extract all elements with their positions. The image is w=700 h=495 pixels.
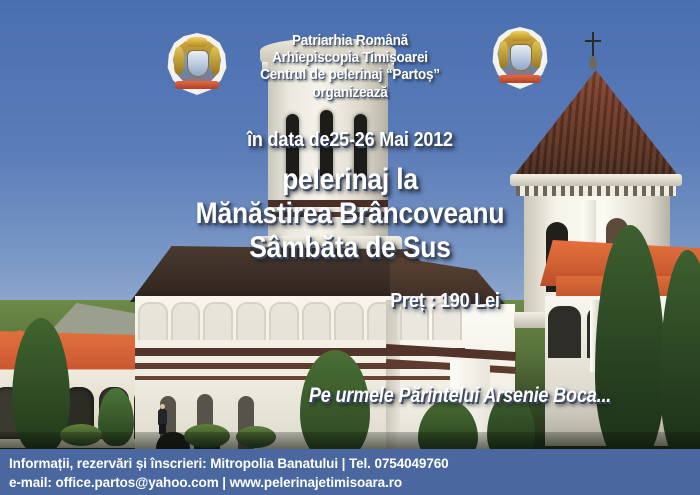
visitor-figure [157, 404, 168, 434]
blind-niche [203, 302, 233, 340]
event-date: în data de25-26 Mai 2012 [35, 129, 665, 151]
blind-niche [171, 302, 201, 340]
event-title-line-3: Sâmbăta de Sus [42, 231, 658, 265]
wall-band-course [135, 376, 465, 380]
contact-footer-bar: Informații, rezervări și înscrieri: Mitr… [0, 449, 700, 495]
pilgrimage-poster: Patriarhia Română Arhiepiscopia Timișoar… [0, 0, 700, 495]
price-label: Preț : 190 Lei [274, 290, 616, 312]
event-tagline: Pe urmele Părintelui Arsenie Boca... [279, 384, 640, 408]
organizer-line-3: Centrul de pelerinaj “Partoș” [25, 67, 676, 83]
footer-contact-line: Informații, rezervări și înscrieri: Mitr… [0, 449, 700, 471]
event-title-line-2: Mănăstirea Brâncoveanu [42, 197, 658, 231]
blind-niche [138, 302, 168, 340]
organizer-line-2: Arhiepiscopia Timișoarei [25, 50, 676, 66]
footer-email-web-line: e-mail: office.partos@yahoo.com | www.pe… [0, 471, 700, 490]
figure-body [158, 409, 167, 425]
organizer-header: Patriarhia Română Arhiepiscopia Timișoar… [25, 33, 676, 102]
organizer-line-1: Patriarhia Română [25, 33, 676, 49]
event-title-line-1: pelerinaj la [42, 163, 658, 197]
organizer-line-4: organizează [25, 85, 676, 101]
loggia-arch [548, 306, 581, 358]
blind-niche [236, 302, 266, 340]
